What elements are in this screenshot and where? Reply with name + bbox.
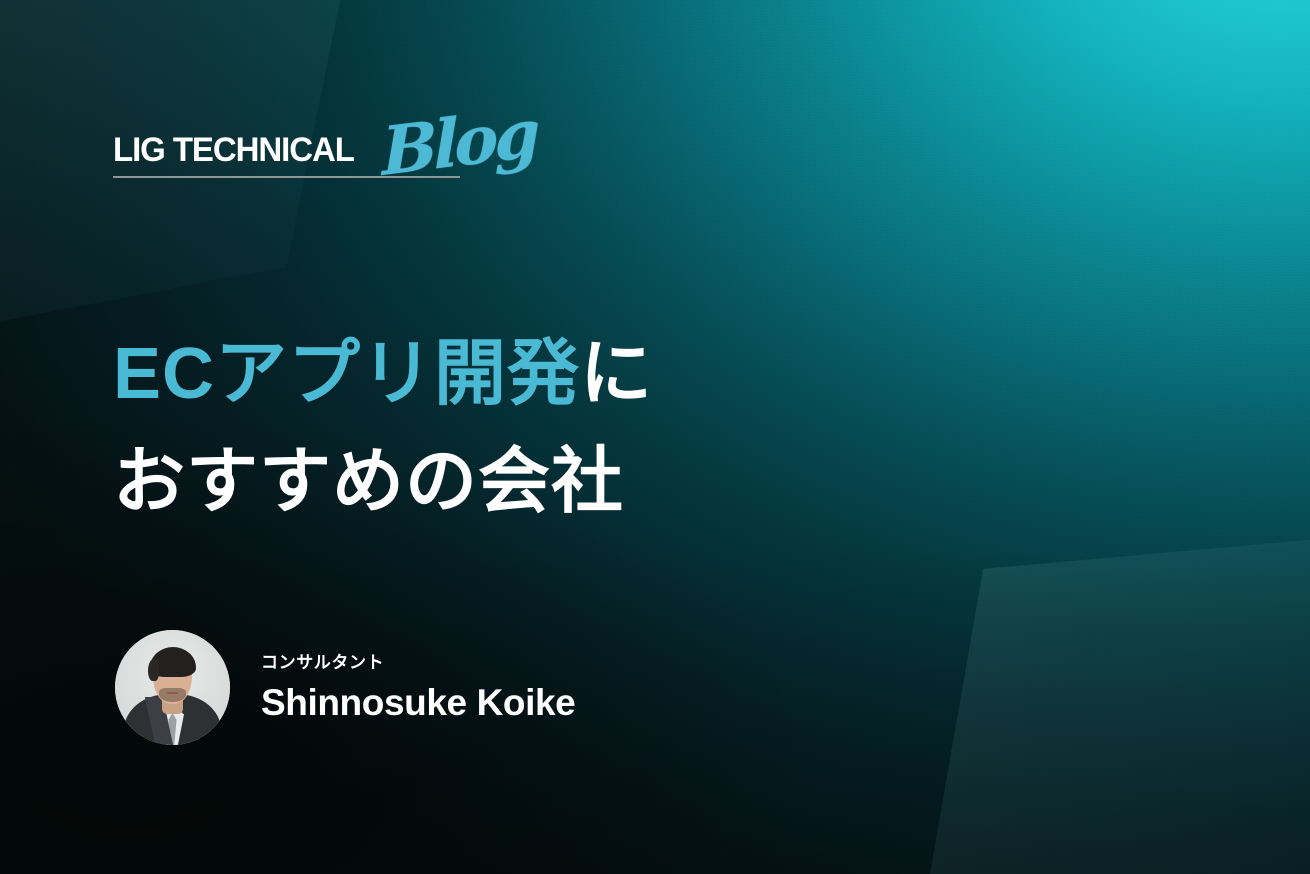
author-name: Shinnosuke Koike <box>261 681 575 725</box>
article-hero-banner: LIG TECHNICAL Blog ECアプリ開発に おすすめの会社 コンサ <box>0 0 1310 874</box>
avatar-hair-side <box>148 659 158 681</box>
headline-accent-text: ECアプリ開発 <box>113 334 580 414</box>
headline-particle-text: に <box>580 334 653 414</box>
page-title: ECアプリ開発に おすすめの会社 <box>113 320 813 536</box>
headline-line-2: おすすめの会社 <box>113 428 813 536</box>
brand-underline-rule <box>113 176 460 178</box>
author-block: コンサルタント Shinnosuke Koike <box>115 630 575 745</box>
avatar <box>115 630 230 745</box>
brand-script-word: Blog <box>381 85 537 200</box>
avatar-mouth <box>166 692 180 695</box>
headline-line-1: ECアプリ開発に <box>113 320 813 428</box>
brand-logo[interactable]: LIG TECHNICAL Blog <box>113 128 513 190</box>
author-role: コンサルタント <box>261 651 575 675</box>
brand-wordmark: LIG TECHNICAL <box>113 128 354 172</box>
author-text-group: コンサルタント Shinnosuke Koike <box>261 651 575 725</box>
